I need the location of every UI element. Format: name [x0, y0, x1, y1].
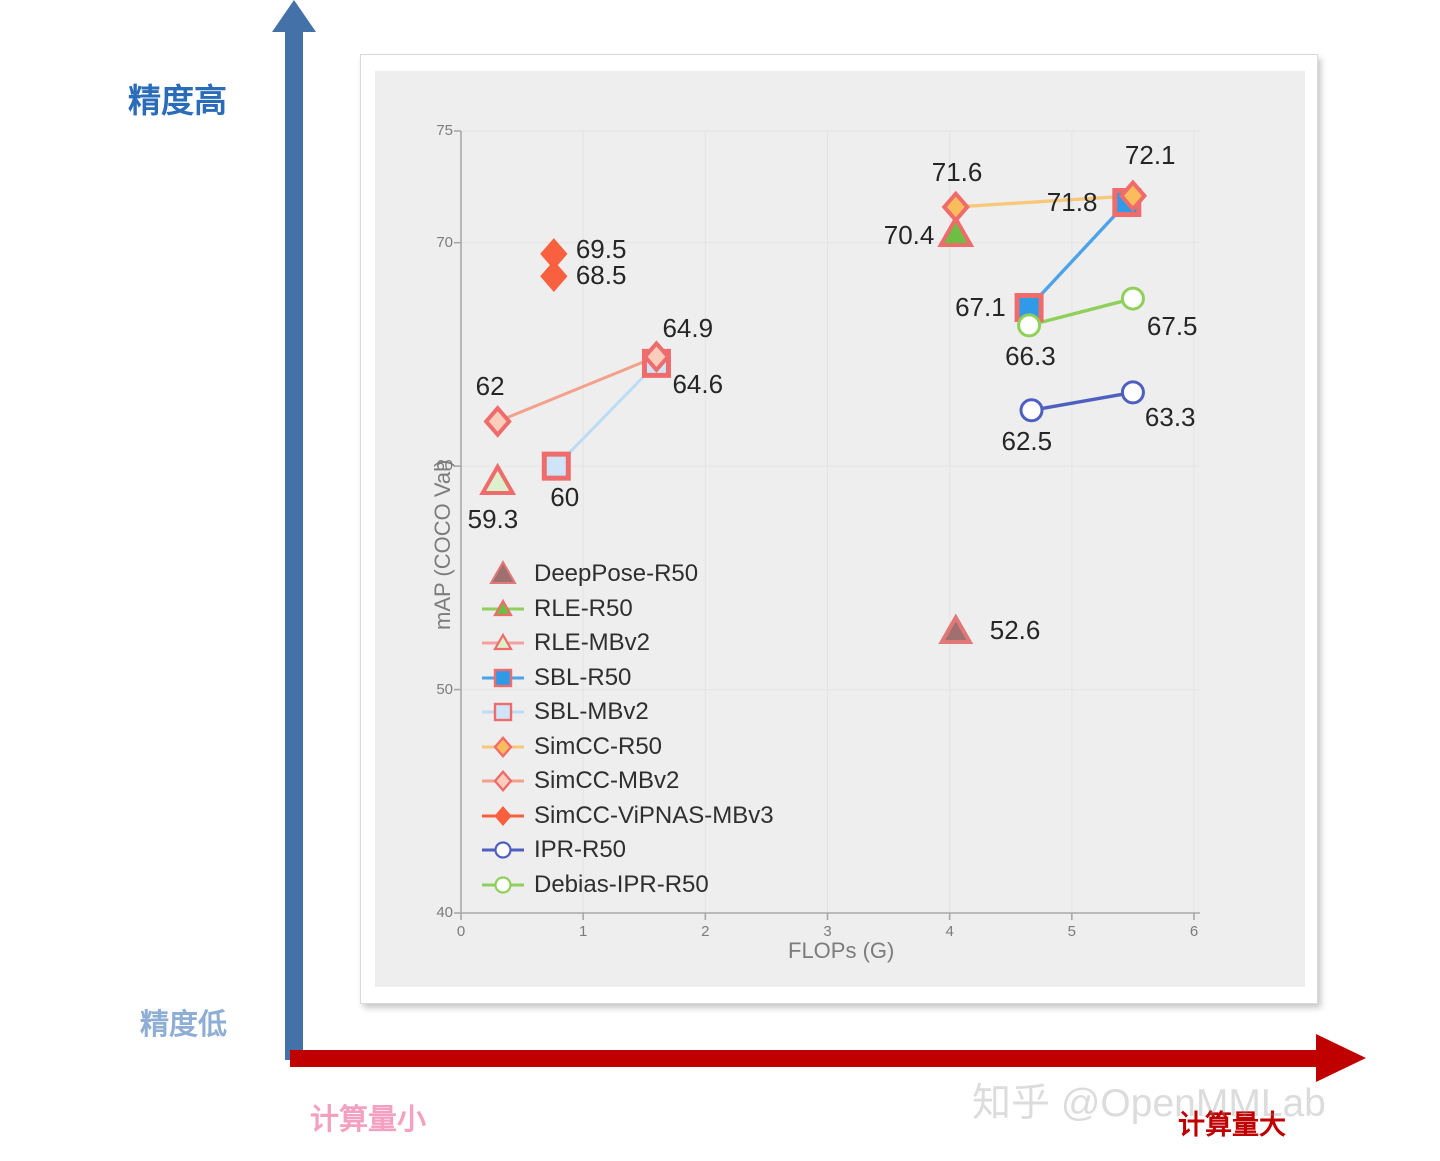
data-label: 71.8: [1047, 187, 1098, 218]
x-tick-label: 1: [571, 923, 595, 940]
legend-marker-icon: [480, 628, 526, 658]
y-tick-label: 75: [429, 122, 453, 139]
y-tick-label: 50: [429, 681, 453, 698]
legend-item-rle-r50[interactable]: RLE-R50: [480, 592, 774, 627]
x-tick-label: 0: [449, 923, 473, 940]
legend-item-deeppose-r50[interactable]: DeepPose-R50: [480, 557, 774, 592]
x-tick-label: 4: [938, 923, 962, 940]
legend-label: SBL-R50: [534, 664, 631, 692]
data-label: 70.4: [884, 220, 935, 251]
flops-axis-arrow: [290, 1050, 1318, 1067]
x-tick-label: 6: [1182, 923, 1206, 940]
x-axis-title: FLOPs (G): [788, 938, 894, 964]
data-label: 64.6: [672, 369, 723, 400]
legend-item-simcc-vipnas-mbv3[interactable]: SimCC-ViPNAS-MBv3: [480, 799, 774, 834]
data-label: 72.1: [1125, 140, 1176, 171]
x-tick-label: 2: [693, 923, 717, 940]
x-tick-label: 5: [1060, 923, 1084, 940]
legend-marker-icon: [480, 697, 526, 727]
high-accuracy-note: 精度高: [128, 74, 227, 122]
data-label: 59.3: [468, 504, 519, 535]
data-label: 52.6: [990, 615, 1041, 646]
legend-marker-icon: [480, 835, 526, 865]
legend-label: DeepPose-R50: [534, 560, 698, 588]
legend-marker-icon: [480, 663, 526, 693]
data-label: 62: [476, 371, 505, 402]
legend-label: IPR-R50: [534, 836, 626, 864]
legend-label: RLE-R50: [534, 595, 633, 623]
data-label: 63.3: [1145, 402, 1196, 433]
legend-label: SBL-MBv2: [534, 698, 649, 726]
data-label: 66.3: [1005, 341, 1056, 372]
legend-marker-icon: [480, 870, 526, 900]
watermark: 知乎 @OpenMMLab: [972, 1072, 1326, 1128]
low-flops-note: 计算量小: [310, 1096, 426, 1138]
legend-label: SimCC-ViPNAS-MBv3: [534, 802, 774, 830]
data-label: 64.9: [662, 313, 713, 344]
chart-legend: DeepPose-R50RLE-R50RLE-MBv2SBL-R50SBL-MB…: [480, 557, 774, 902]
legend-item-sbl-mbv2[interactable]: SBL-MBv2: [480, 695, 774, 730]
data-label: 60: [550, 482, 579, 513]
legend-marker-icon: [480, 801, 526, 831]
legend-item-debias-ipr-r50[interactable]: Debias-IPR-R50: [480, 868, 774, 903]
data-label: 62.5: [1002, 426, 1053, 457]
legend-label: SimCC-MBv2: [534, 767, 679, 795]
legend-label: SimCC-R50: [534, 733, 662, 761]
low-accuracy-note: 精度低: [140, 1001, 227, 1043]
accuracy-axis-arrow: [285, 30, 303, 1060]
legend-item-rle-mbv2[interactable]: RLE-MBv2: [480, 626, 774, 661]
legend-item-sbl-r50[interactable]: SBL-R50: [480, 661, 774, 696]
data-label: 68.5: [576, 260, 627, 291]
legend-item-simcc-mbv2[interactable]: SimCC-MBv2: [480, 764, 774, 799]
y-axis-title: mAP (COCO Val): [430, 460, 456, 630]
legend-item-simcc-r50[interactable]: SimCC-R50: [480, 730, 774, 765]
legend-marker-icon: [480, 559, 526, 589]
data-label: 67.5: [1147, 311, 1198, 342]
y-tick-label: 40: [429, 904, 453, 921]
data-label: 67.1: [955, 292, 1006, 323]
legend-item-ipr-r50[interactable]: IPR-R50: [480, 833, 774, 868]
legend-label: RLE-MBv2: [534, 629, 650, 657]
legend-marker-icon: [480, 766, 526, 796]
legend-marker-icon: [480, 732, 526, 762]
y-tick-label: 70: [429, 234, 453, 251]
legend-marker-icon: [480, 594, 526, 624]
data-label: 71.6: [932, 157, 983, 188]
legend-label: Debias-IPR-R50: [534, 871, 709, 899]
